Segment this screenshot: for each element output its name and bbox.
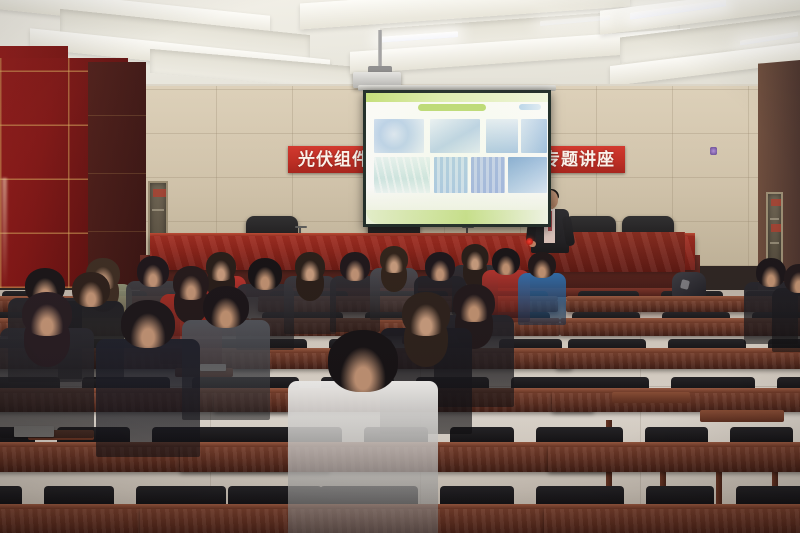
banner-text-left: 光伏组件 (298, 146, 370, 173)
audience-member-head (425, 252, 455, 281)
audience-member-head (121, 300, 175, 348)
slide-image-wafer-stack (430, 119, 480, 153)
projection-screen (363, 90, 551, 227)
slide-footer-bar (366, 210, 548, 224)
projector-lens-icon (710, 147, 717, 155)
audience-member (0, 292, 94, 446)
bench-writing-tablet[interactable] (612, 392, 690, 403)
auditorium-bench[interactable] (544, 508, 800, 533)
presentation-slide (366, 93, 548, 224)
slide-image-solar-cell-closeup (374, 119, 424, 153)
slide-image-blue-cell-panel (434, 157, 468, 193)
audience-member-torso (288, 381, 438, 533)
slide-image-solar-farm-rows (374, 157, 430, 193)
slide-header-bar (366, 93, 548, 102)
projector-mount-pole (378, 30, 382, 70)
microphone-head (295, 226, 307, 228)
audience-member-head (492, 248, 520, 275)
slide-image-wafer-fan (508, 157, 547, 193)
audience-member (518, 252, 566, 330)
audience-member-head (340, 252, 370, 281)
auditorium-bench[interactable] (548, 446, 800, 472)
laser-pointer-icon (526, 238, 533, 245)
audience-member-torso (518, 273, 566, 325)
audience-member-head (328, 330, 398, 392)
auditorium-bench[interactable] (556, 352, 800, 369)
bench-writing-tablet[interactable] (700, 410, 784, 422)
audience-member-torso (772, 288, 800, 352)
audience-member (772, 264, 800, 357)
audience-member (96, 300, 200, 466)
audience-member-head (295, 252, 325, 281)
slide-image-cell-sheets (521, 119, 547, 153)
slide-title-placeholder (418, 104, 486, 111)
auditorium-scene: 光伏组件 专题讲座 (0, 0, 800, 533)
slide-image-violet-cell-panel (471, 157, 505, 193)
banner-text-right: 专题讲座 (543, 146, 615, 173)
bench-backrest (544, 504, 800, 509)
slide-corner-graphic (519, 104, 541, 110)
wall-light-reflection (2, 178, 7, 288)
audience-member-head (528, 252, 556, 278)
audience-member-torso (96, 339, 200, 457)
slide-image-module-block (486, 119, 518, 153)
audience-member-head (380, 246, 408, 273)
audience-member-head (784, 264, 800, 293)
bench-backrest (548, 442, 800, 447)
audience-member-head (22, 292, 72, 336)
audience-member-head (203, 286, 249, 328)
audience-member (284, 252, 336, 339)
audience-member (288, 330, 438, 533)
